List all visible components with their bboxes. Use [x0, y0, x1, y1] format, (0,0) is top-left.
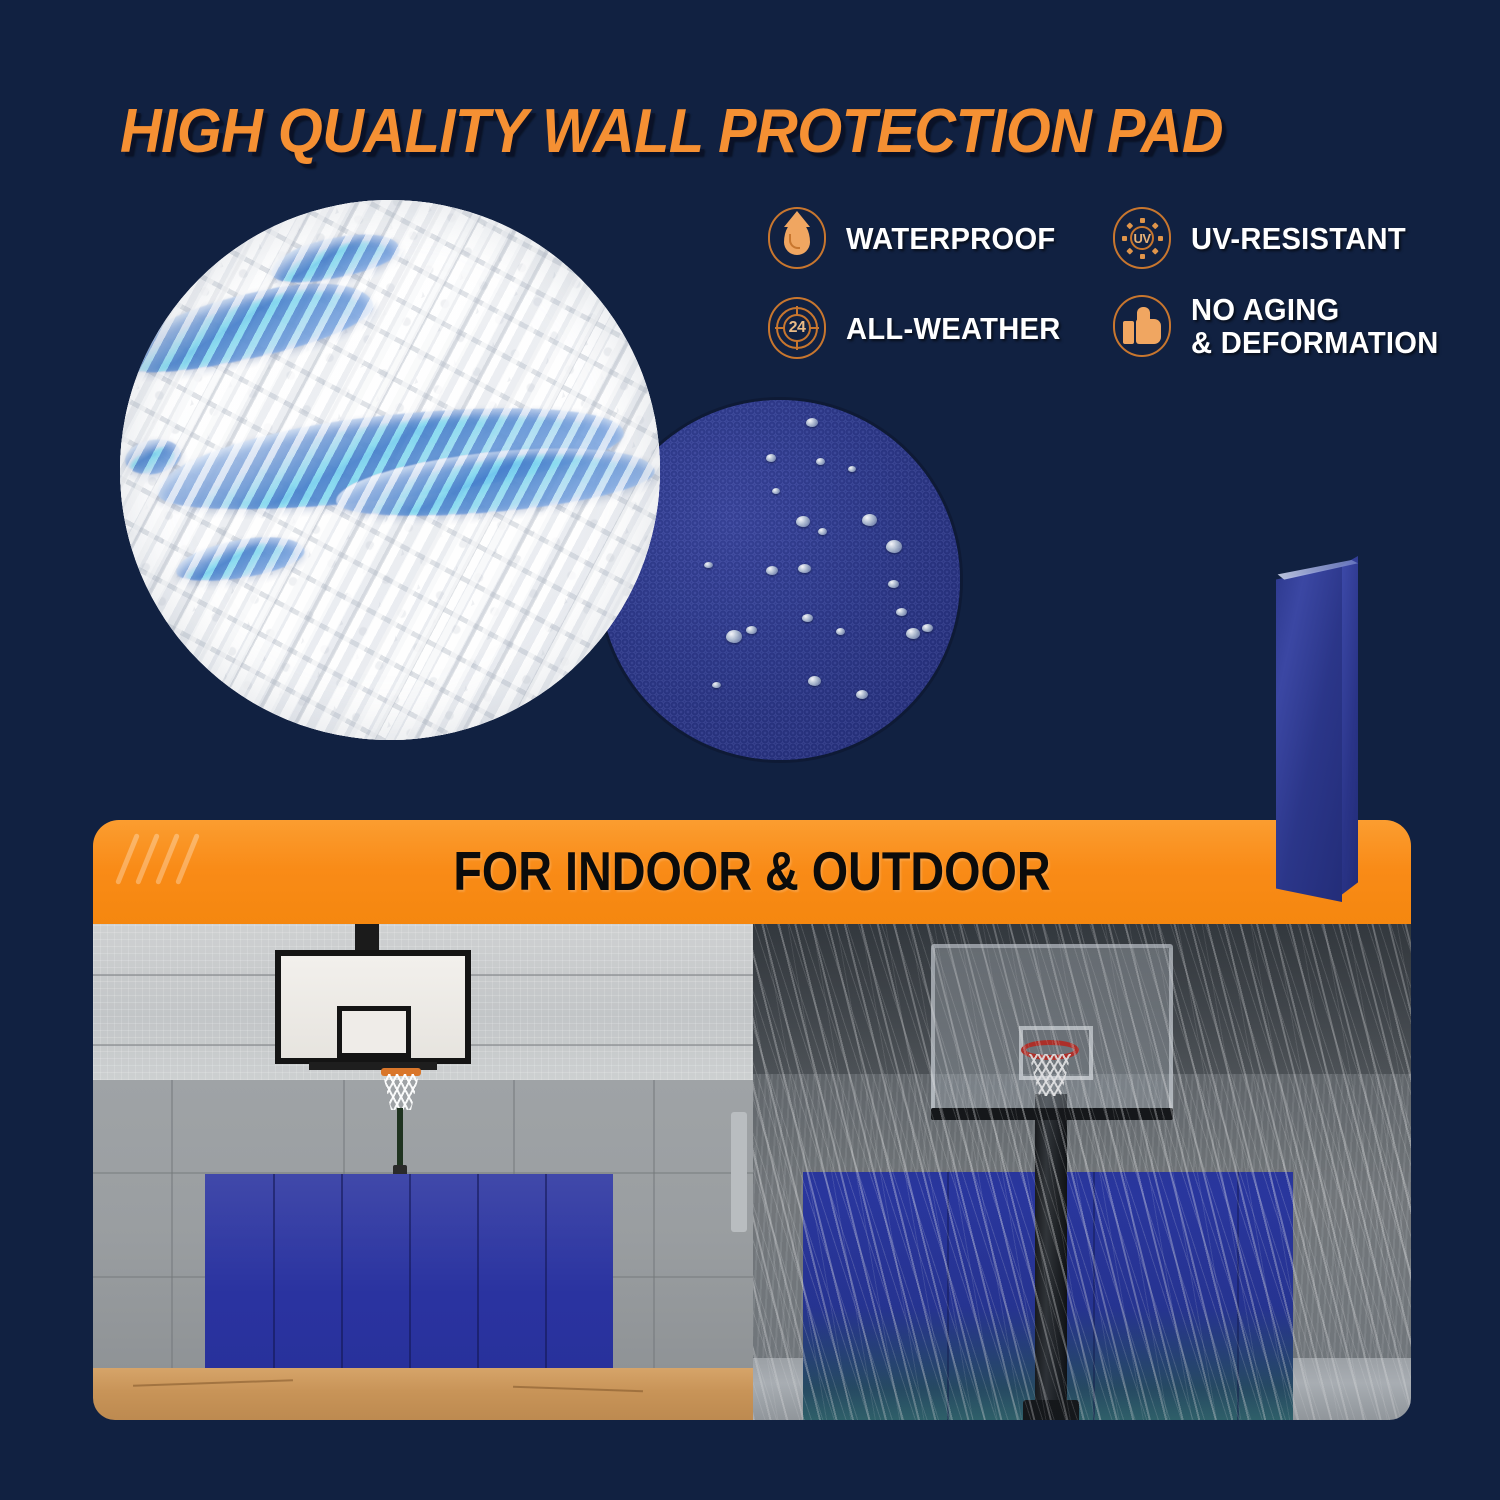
feature-label: ALL-WEATHER [846, 312, 1061, 345]
banner-text: FOR INDOOR & OUTDOOR [192, 836, 1312, 906]
page-title: HIGH QUALITY WALL PROTECTION PAD [120, 96, 1223, 168]
feature-label-line2: & DEFORMATION [1191, 326, 1439, 359]
indoor-outdoor-banner: FOR INDOOR & OUTDOOR [93, 820, 1411, 924]
white-mesh-water-beading-closeup [120, 200, 660, 740]
feature-no-aging: NO AGING & DEFORMATION [1113, 293, 1454, 359]
clock-icon-text: 24 [789, 320, 806, 336]
blue-wall-pad-3d-panel [1276, 552, 1362, 902]
clock-24-icon: 24 [768, 297, 826, 359]
feature-label: NO AGING & DEFORMATION [1191, 293, 1439, 359]
feature-label-line1: NO AGING [1191, 292, 1340, 327]
outdoor-rain-basketball-hoop-with-blue-wall-pad [753, 922, 1411, 1420]
water-drop-icon [768, 207, 826, 269]
uv-sun-icon: UV [1113, 207, 1171, 269]
feature-label: WATERPROOF [846, 222, 1056, 255]
scene-photo-pair [93, 922, 1411, 1420]
feature-all-weather: 24 ALL-WEATHER [768, 297, 1074, 359]
thumbs-up-icon [1113, 295, 1171, 357]
feature-label: UV-RESISTANT [1191, 222, 1406, 255]
backboard-indoor [275, 950, 471, 1064]
feature-waterproof: WATERPROOF [768, 207, 1069, 269]
uv-icon-text: UV [1133, 232, 1150, 245]
infographic-canvas: HIGH QUALITY WALL PROTECTION PAD WATERPR… [0, 0, 1500, 1500]
indoor-gym-basketball-hoop-with-blue-wall-pad [93, 922, 753, 1420]
feature-list: WATERPROOF UV UV-RESISTANT 24 ALL-WEAT [768, 205, 1468, 395]
feature-uv-resistant: UV UV-RESISTANT [1113, 207, 1420, 269]
